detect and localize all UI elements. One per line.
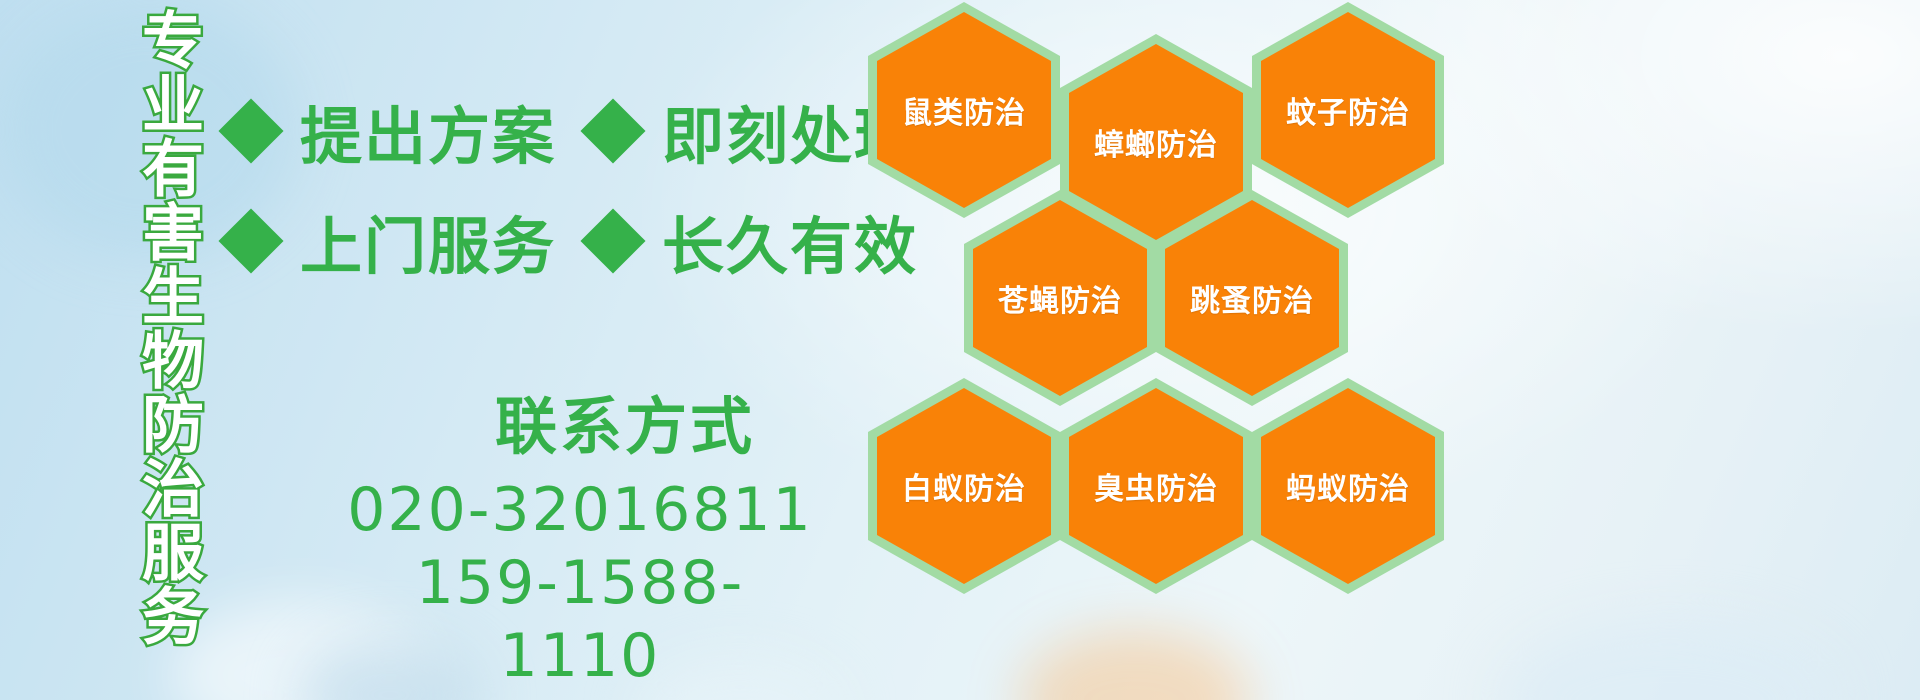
hex-label: 蟑螂防治 [1094, 120, 1218, 164]
service-honeycomb: 鼠类防治 蟑螂防治 蚊子防治 苍蝇防治 跳蚤防治 白蚁防治 [862, 0, 1462, 554]
hex-cell-bedbug[interactable]: 臭虫防治 [1060, 378, 1252, 594]
hex-fill: 蚊子防治 [1261, 12, 1435, 208]
hex-label: 臭虫防治 [1094, 464, 1218, 508]
background-blob [1500, 620, 1840, 700]
phone-mobile[interactable]: 159-1588-1110 [300, 547, 820, 693]
contact-title: 联系方式 [300, 396, 820, 458]
hex-fill: 白蚁防治 [877, 388, 1051, 584]
hex-cell-ant[interactable]: 蚂蚁防治 [1252, 378, 1444, 594]
hex-fill: 苍蝇防治 [973, 200, 1147, 396]
hex-fill: 鼠类防治 [877, 12, 1051, 208]
hex-label: 跳蚤防治 [1190, 276, 1314, 320]
hex-cell-termite[interactable]: 白蚁防治 [868, 378, 1060, 594]
feature-row-1: 提出方案 即刻处理 [228, 86, 918, 176]
vertical-headline: 专业有害生物防治服务 [108, 8, 200, 568]
hex-label: 蚂蚁防治 [1286, 464, 1410, 508]
hex-fill: 蚂蚁防治 [1261, 388, 1435, 584]
hex-cell-rodent[interactable]: 鼠类防治 [868, 2, 1060, 218]
contact-block: 联系方式 020-32016811 159-1588-1110 [300, 396, 820, 694]
feature-item-propose-plan: 提出方案 [300, 86, 556, 176]
feature-item-onsite-service: 上门服务 [300, 196, 556, 286]
diamond-bullet-icon [580, 208, 645, 273]
phone-landline[interactable]: 020-32016811 [300, 474, 820, 547]
hex-label: 苍蝇防治 [998, 276, 1122, 320]
diamond-bullet-icon [218, 208, 283, 273]
hex-label: 白蚁防治 [902, 464, 1026, 508]
diamond-bullet-icon [580, 98, 645, 163]
pest-control-banner: 专业有害生物防治服务 提出方案 即刻处理 上门服务 长久有效 联系方式 020-… [0, 0, 1920, 700]
feature-row-2: 上门服务 长久有效 [228, 196, 918, 286]
background-blob [1020, 630, 1250, 700]
hex-label: 鼠类防治 [902, 88, 1026, 132]
hex-label: 蚊子防治 [1286, 88, 1410, 132]
diamond-bullet-icon [218, 98, 283, 163]
hex-fill: 臭虫防治 [1069, 388, 1243, 584]
hex-fill: 跳蚤防治 [1165, 200, 1339, 396]
hex-cell-mosquito[interactable]: 蚊子防治 [1252, 2, 1444, 218]
